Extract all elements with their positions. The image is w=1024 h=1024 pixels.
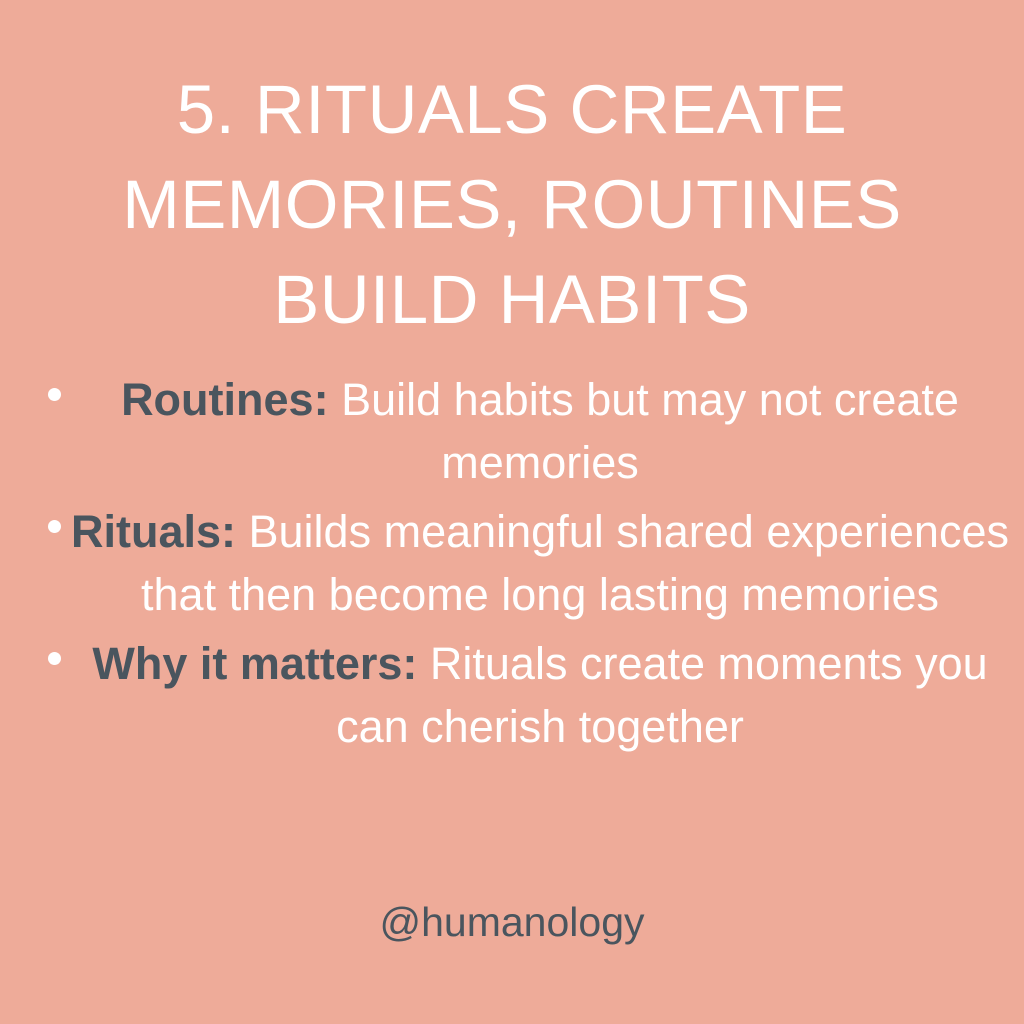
list-item: Rituals: Builds meaningful shared experi… bbox=[14, 500, 1014, 626]
bullet-dot-icon bbox=[48, 388, 61, 401]
bullet-body: Rituals create moments you can cherish t… bbox=[336, 638, 988, 752]
list-item: Why it matters: Rituals create moments y… bbox=[14, 632, 1014, 758]
bullet-body: Builds meaningful shared experiences tha… bbox=[141, 506, 1009, 620]
bullet-text: Why it matters: Rituals create moments y… bbox=[66, 632, 1014, 758]
bullet-list: Routines: Build habits but may not creat… bbox=[14, 368, 1014, 764]
bullet-dot-icon bbox=[48, 652, 61, 665]
bullet-dot-icon bbox=[48, 520, 61, 533]
bullet-label: Why it matters: bbox=[92, 638, 417, 689]
bullet-text: Routines: Build habits but may not creat… bbox=[66, 368, 1014, 494]
slide-canvas: 5. Rituals create memories, routines bui… bbox=[0, 0, 1024, 1024]
bullet-label: Routines: bbox=[121, 374, 329, 425]
slide-title: 5. Rituals create memories, routines bui… bbox=[18, 62, 1006, 347]
list-item: Routines: Build habits but may not creat… bbox=[14, 368, 1014, 494]
account-handle: @humanology bbox=[0, 896, 1024, 948]
bullet-text: Rituals: Builds meaningful shared experi… bbox=[66, 500, 1014, 626]
bullet-body: Build habits but may not create memories bbox=[329, 374, 959, 488]
bullet-label: Rituals: bbox=[71, 506, 236, 557]
